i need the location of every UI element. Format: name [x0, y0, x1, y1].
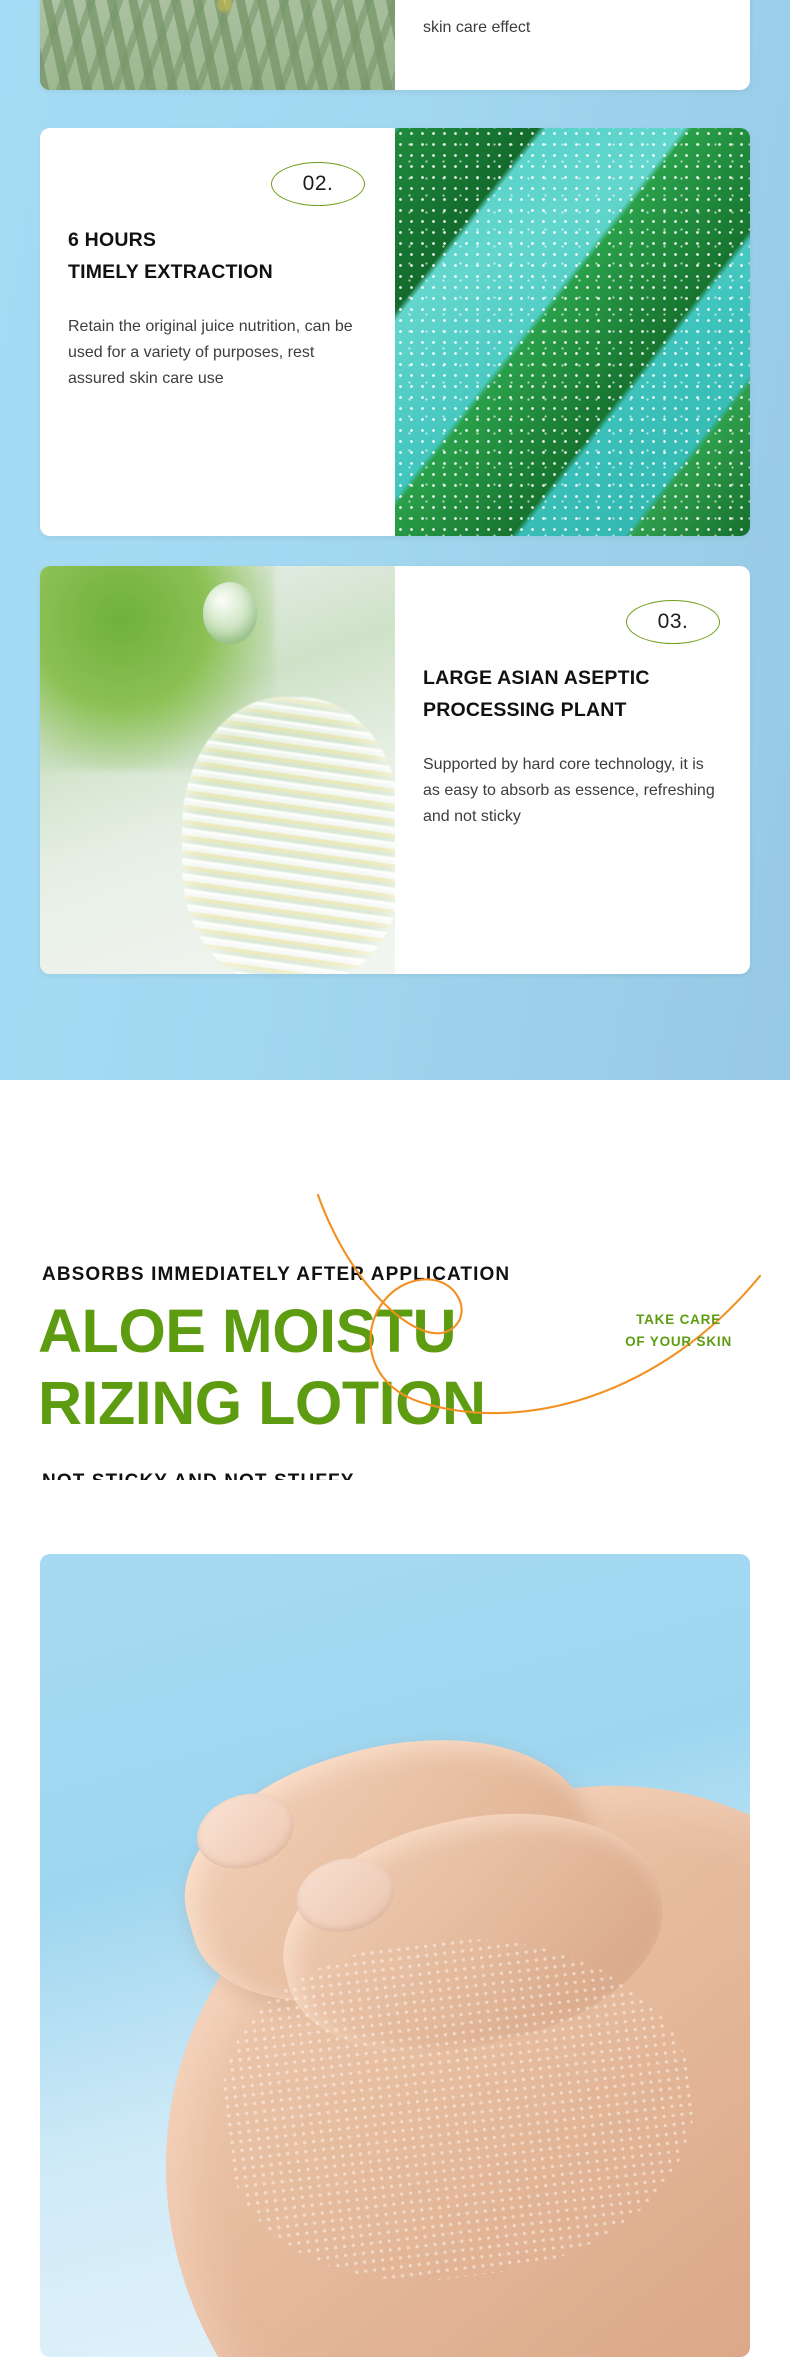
- feature-card-03-text: Supported by hard core technology, it is…: [423, 752, 723, 830]
- page-title-line1: ALOE MOISTU: [38, 1296, 486, 1368]
- feature-card-02-title: 6 HOURS TIMELY EXTRACTION: [68, 224, 273, 288]
- headline-kicker: ABSORBS IMMEDIATELY AFTER APPLICATION: [42, 1264, 510, 1286]
- feature-card-03-title: LARGE ASIAN ASEPTIC PROCESSING PLANT: [423, 662, 650, 726]
- feature-card-03[interactable]: 03. LARGE ASIAN ASEPTIC PROCESSING PLANT…: [40, 566, 750, 974]
- headline-section: ABSORBS IMMEDIATELY AFTER APPLICATION AL…: [0, 1080, 790, 1480]
- feature-card-01[interactable]: 01. skin care effect: [40, 0, 750, 90]
- take-care-badge-line1: TAKE CARE: [625, 1309, 732, 1331]
- feature-card-03-number: 03.: [626, 600, 720, 644]
- hand-applying-lotion-photo: [40, 1554, 750, 2357]
- feature-card-02-title-line1: 6 HOURS: [68, 224, 273, 256]
- page-title-line2: RIZING LOTION: [38, 1368, 486, 1440]
- feature-card-02-text: Retain the original juice nutrition, can…: [68, 314, 368, 392]
- feature-card-02[interactable]: 02. 6 HOURS TIMELY EXTRACTION Retain the…: [40, 128, 750, 536]
- aloe-droplet-jar-photo: [40, 566, 395, 974]
- feature-card-02-number: 02.: [271, 162, 365, 206]
- aloe-dew-leaf-photo: [395, 128, 750, 536]
- take-care-badge-line2: OF YOUR SKIN: [625, 1331, 732, 1353]
- take-care-badge: TAKE CARE OF YOUR SKIN: [625, 1309, 732, 1354]
- feature-card-01-body: 01. skin care effect: [395, 0, 750, 90]
- features-blue-section: 01. skin care effect 02. 6 HOURS TIMELY …: [0, 0, 790, 1080]
- aloe-field-photo: [40, 0, 395, 90]
- feature-card-03-body: 03. LARGE ASIAN ASEPTIC PROCESSING PLANT…: [395, 566, 750, 974]
- feature-card-02-body: 02. 6 HOURS TIMELY EXTRACTION Retain the…: [40, 128, 395, 536]
- feature-card-02-title-line2: TIMELY EXTRACTION: [68, 256, 273, 288]
- feature-card-03-title-line2: PROCESSING PLANT: [423, 694, 650, 726]
- feature-card-03-title-line1: LARGE ASIAN ASEPTIC: [423, 662, 650, 694]
- headline-subkicker: NOT STICKY AND NOT STUFFY: [42, 1471, 355, 1480]
- feature-card-01-text: skin care effect: [423, 15, 723, 41]
- page-title: ALOE MOISTU RIZING LOTION: [38, 1296, 486, 1440]
